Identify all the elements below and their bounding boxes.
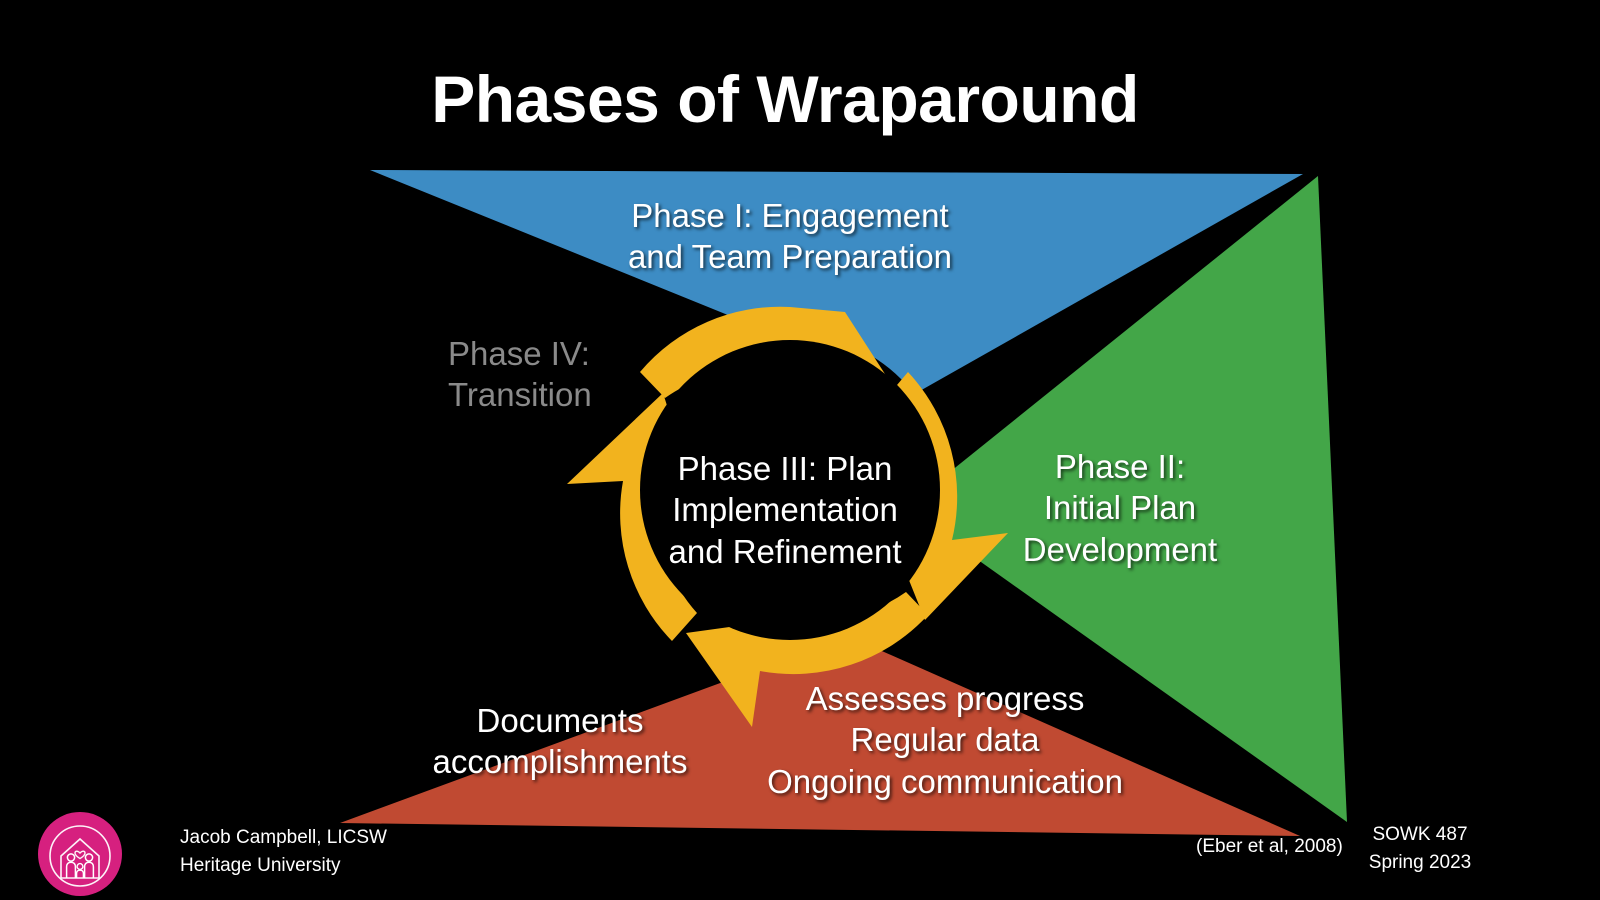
bottom-note-left: Documents accomplishments <box>400 700 720 783</box>
phase-4-label: Phase IV: Transition <box>448 333 698 416</box>
source-citation: (Eber et al, 2008) <box>1196 836 1343 858</box>
heritage-university-logo <box>38 812 122 896</box>
course-label: SOWK 487 Spring 2023 <box>1355 821 1485 876</box>
slide-canvas: Phases of Wraparound Phase I: Engagement… <box>0 0 1600 900</box>
presenter-credit: Jacob Campbell, LICSW Heritage Universit… <box>180 824 387 879</box>
bottom-note-right: Assesses progress Regular data Ongoing c… <box>700 678 1190 802</box>
phase-2-label: Phase II: Initial Plan Development <box>1000 446 1240 570</box>
phase-3-label: Phase III: Plan Implementation and Refin… <box>640 448 930 572</box>
phase-1-label: Phase I: Engagement and Team Preparation <box>520 195 1060 278</box>
